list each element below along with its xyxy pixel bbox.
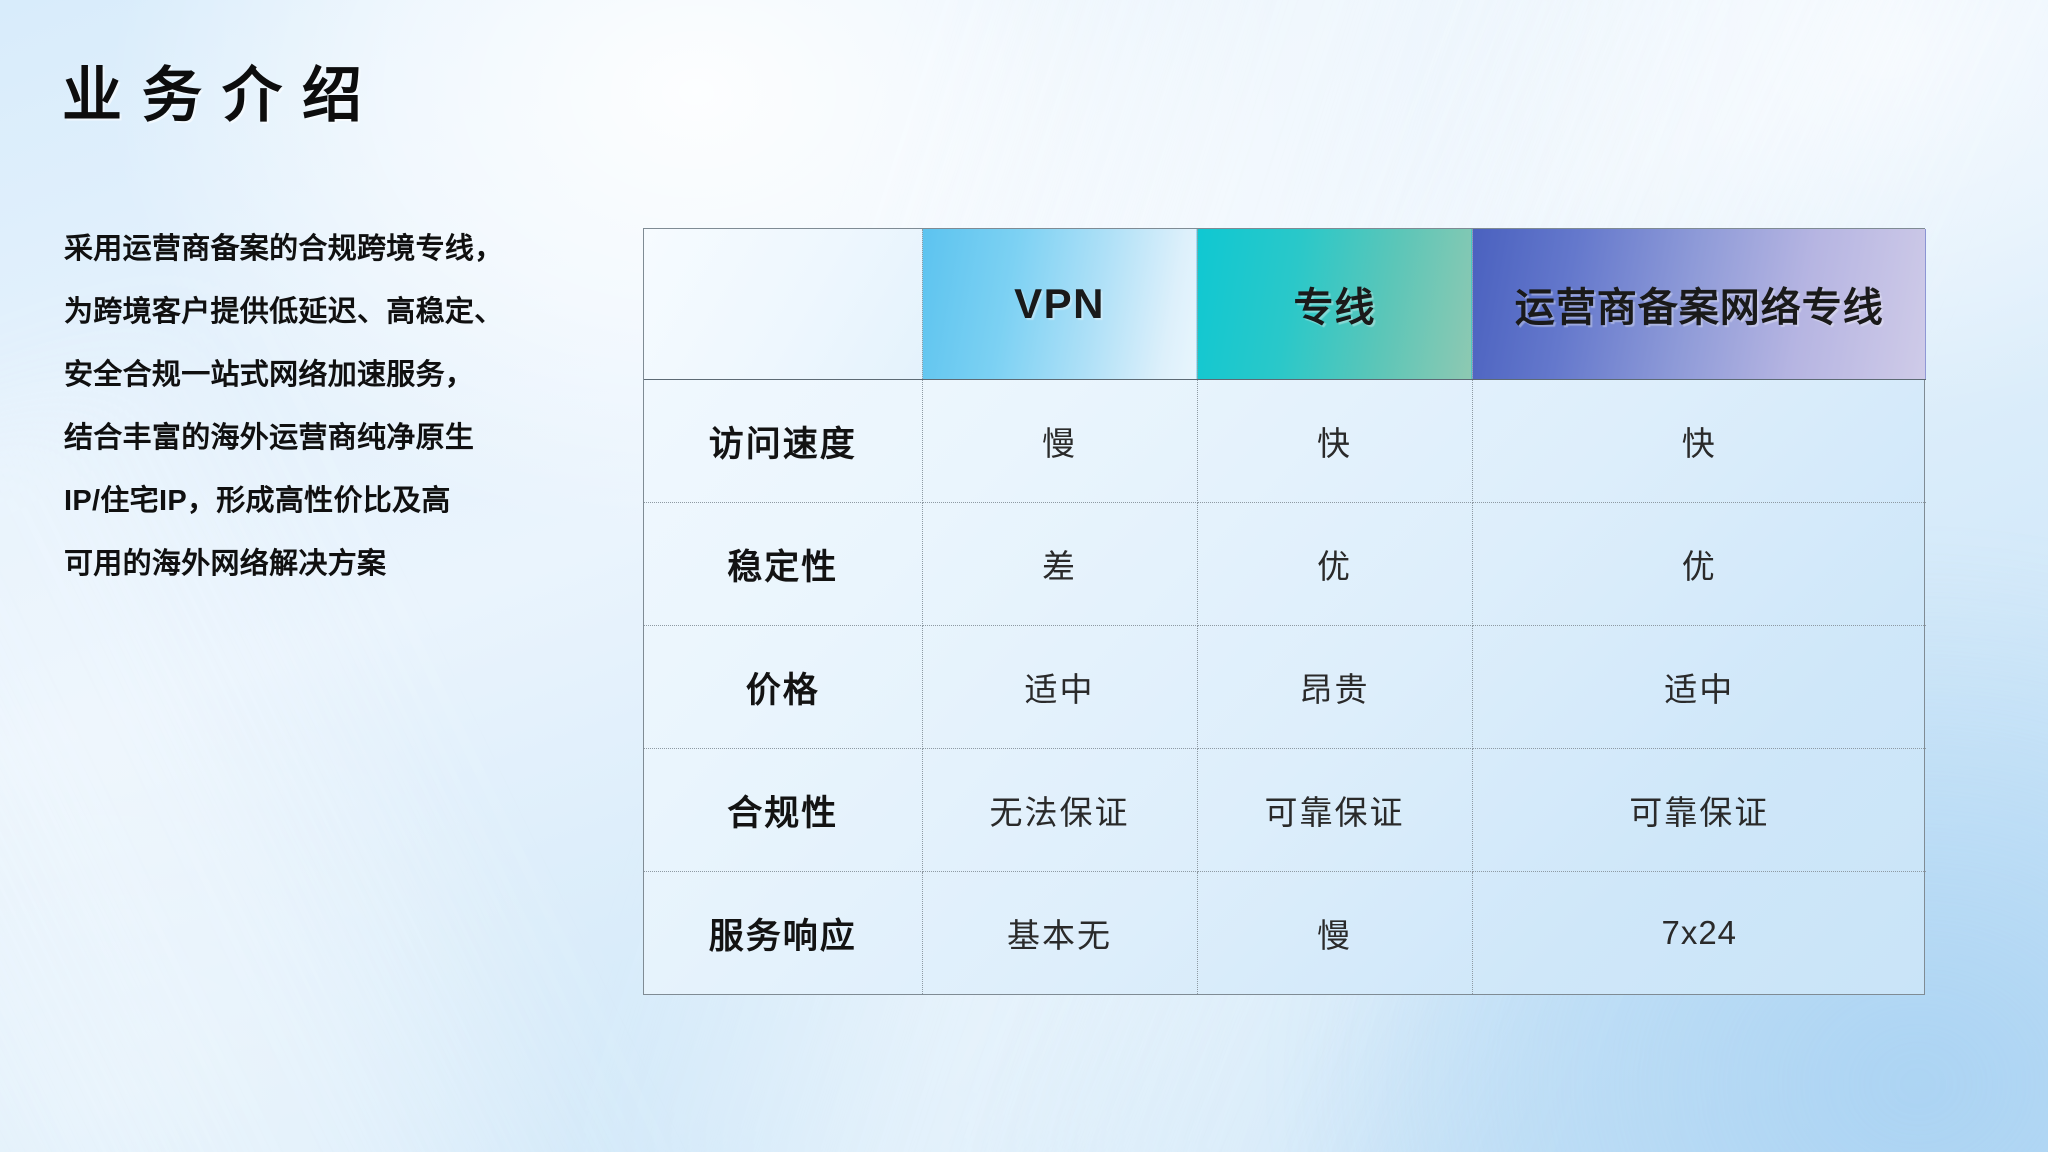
table-header-dedicated-line: 专线 — [1197, 229, 1472, 380]
intro-paragraph: 采用运营商备案的合规跨境专线， 为跨境客户提供低延迟、高稳定、 安全合规一站式网… — [64, 218, 624, 596]
table-row: 稳定性 差 优 优 — [644, 503, 1926, 626]
comparison-table-container: VPN 专线 运营商备案网络专线 访问速度 慢 — [643, 228, 1925, 995]
page-title: 业务介绍 — [62, 58, 382, 133]
row-value-cell: 可靠保证 — [1197, 749, 1472, 872]
intro-line: IP/住宅IP，形成高性价比及高 — [64, 470, 624, 533]
row-value-cell: 差 — [922, 503, 1197, 626]
row-label-cell: 稳定性 — [644, 503, 922, 626]
cell-value: 可靠保证 — [1629, 794, 1769, 831]
row-value-cell: 可靠保证 — [1472, 749, 1926, 872]
row-value-cell: 慢 — [1197, 872, 1472, 994]
table-row: 价格 适中 昂贵 适中 — [644, 626, 1926, 749]
table-header-carrier-line: 运营商备案网络专线 — [1472, 229, 1926, 380]
row-value-cell: 慢 — [922, 380, 1197, 503]
row-value-cell: 7x24 — [1472, 872, 1926, 994]
cell-value: 快 — [1682, 425, 1717, 462]
cell-value: 基本无 — [1007, 917, 1112, 954]
row-value-cell: 基本无 — [922, 872, 1197, 994]
cell-value: 7x24 — [1661, 914, 1737, 951]
cell-value: 快 — [1317, 425, 1352, 462]
row-label-cell: 访问速度 — [644, 380, 922, 503]
intro-line: 可用的海外网络解决方案 — [64, 533, 624, 596]
cell-value: 慢 — [1042, 425, 1077, 462]
cell-value: 慢 — [1317, 917, 1352, 954]
row-label-cell: 合规性 — [644, 749, 922, 872]
table-header-vpn: VPN — [922, 229, 1197, 380]
slide-canvas: 业务介绍 采用运营商备案的合规跨境专线， 为跨境客户提供低延迟、高稳定、 安全合… — [0, 0, 2048, 1152]
cell-value: 昂贵 — [1300, 671, 1370, 708]
table-header-row: VPN 专线 运营商备案网络专线 — [644, 229, 1926, 380]
cell-value: 适中 — [1664, 671, 1734, 708]
table-header-label: 专线 — [1294, 286, 1376, 330]
intro-line: 结合丰富的海外运营商纯净原生 — [64, 407, 624, 470]
row-label-cell: 价格 — [644, 626, 922, 749]
table-header-blank — [644, 229, 922, 380]
row-label: 访问速度 — [709, 425, 857, 464]
cell-value: 优 — [1682, 548, 1717, 585]
table-header-label: VPN — [1014, 280, 1105, 327]
comparison-table: VPN 专线 运营商备案网络专线 访问速度 慢 — [644, 229, 1926, 994]
row-value-cell: 适中 — [922, 626, 1197, 749]
cell-value: 适中 — [1025, 671, 1095, 708]
row-label-cell: 服务响应 — [644, 872, 922, 994]
row-label: 合规性 — [727, 794, 838, 833]
row-label: 价格 — [746, 671, 820, 710]
table-row: 合规性 无法保证 可靠保证 可靠保证 — [644, 749, 1926, 872]
row-value-cell: 无法保证 — [922, 749, 1197, 872]
row-value-cell: 优 — [1197, 503, 1472, 626]
table-row: 服务响应 基本无 慢 7x24 — [644, 872, 1926, 994]
row-value-cell: 适中 — [1472, 626, 1926, 749]
row-label: 稳定性 — [727, 548, 838, 587]
row-value-cell: 快 — [1197, 380, 1472, 503]
table-row: 访问速度 慢 快 快 — [644, 380, 1926, 503]
cell-value: 可靠保证 — [1265, 794, 1405, 831]
table-header-label: 运营商备案网络专线 — [1515, 286, 1884, 330]
row-value-cell: 快 — [1472, 380, 1926, 503]
row-value-cell: 优 — [1472, 503, 1926, 626]
cell-value: 无法保证 — [990, 794, 1130, 831]
row-value-cell: 昂贵 — [1197, 626, 1472, 749]
row-label: 服务响应 — [709, 917, 857, 956]
intro-line: 采用运营商备案的合规跨境专线， — [64, 218, 624, 281]
cell-value: 差 — [1042, 548, 1077, 585]
cell-value: 优 — [1317, 548, 1352, 585]
intro-line: 安全合规一站式网络加速服务， — [64, 344, 624, 407]
intro-line: 为跨境客户提供低延迟、高稳定、 — [64, 281, 624, 344]
